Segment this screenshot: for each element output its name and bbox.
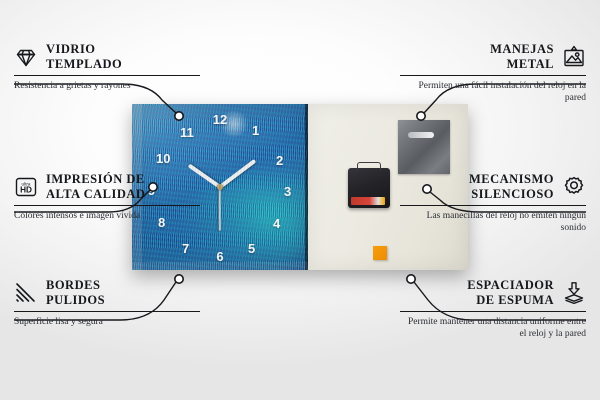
clock-numeral-10: 10 <box>156 152 170 165</box>
feature-header: BORDESPULIDOS <box>14 278 200 308</box>
feature-rule <box>400 311 586 312</box>
clock-numeral-2: 2 <box>276 154 283 167</box>
diagonal-lines-icon <box>14 281 38 305</box>
feature-mecanismo-silencioso[interactable]: MECANISMOSILENCIOSO Las manecillas del r… <box>400 172 586 235</box>
diamond-icon <box>14 45 38 69</box>
feature-description: Permite mantener una distancia uniforme … <box>400 316 586 341</box>
clock-numeral-7: 7 <box>182 242 189 255</box>
clock-numeral-3: 3 <box>284 185 291 198</box>
feature-rule <box>14 205 200 206</box>
feature-title: MANEJASMETAL <box>490 42 554 72</box>
quartz-movement <box>348 168 390 208</box>
feature-header: VIDRIOTEMPLADO <box>14 42 200 72</box>
feature-title: ESPACIADORDE ESPUMA <box>467 278 554 308</box>
feature-vidrio-templado[interactable]: VIDRIOTEMPLADO Resistencia a grietas y r… <box>14 42 200 92</box>
feature-description: Permiten una fácil instalación del reloj… <box>400 80 586 105</box>
clock-center-cap <box>217 184 223 190</box>
feature-description: Superficie lisa y segura <box>14 316 200 328</box>
feature-impresion-alta-calidad[interactable]: ultra HD IMPRESIÓN DEALTA CALIDAD Colore… <box>14 172 200 222</box>
feature-description: Colores intensos e imagen vívida <box>14 210 200 222</box>
svg-text:HD: HD <box>20 185 32 194</box>
feature-rule <box>14 311 200 312</box>
feature-rule <box>400 75 586 76</box>
feature-espaciador-espuma[interactable]: ESPACIADORDE ESPUMA Permite mantener una… <box>400 278 586 341</box>
feature-header: MECANISMOSILENCIOSO <box>400 172 586 202</box>
feature-rule <box>400 205 586 206</box>
feature-description: Las manecillas del reloj no emiten ningú… <box>400 210 586 235</box>
feature-header: ESPACIADORDE ESPUMA <box>400 278 586 308</box>
clock-second-hand <box>219 187 221 231</box>
foam-spacer <box>373 246 387 260</box>
feature-bordes-pulidos[interactable]: BORDESPULIDOS Superficie lisa y segura <box>14 278 200 328</box>
feature-title: BORDESPULIDOS <box>46 278 105 308</box>
feature-description: Resistencia a grietas y rayones <box>14 80 200 92</box>
picture-frame-hanger-icon <box>562 45 586 69</box>
clock-numeral-5: 5 <box>248 242 255 255</box>
feature-header: ultra HD IMPRESIÓN DEALTA CALIDAD <box>14 172 200 202</box>
feature-manejas-metal[interactable]: MANEJASMETAL Permiten una fácil instalac… <box>400 42 586 105</box>
feature-rule <box>14 75 200 76</box>
feature-title: MECANISMOSILENCIOSO <box>469 172 554 202</box>
gear-icon <box>562 175 586 199</box>
foam-spacer-arrow-icon <box>562 281 586 305</box>
clock-numeral-1: 1 <box>252 124 259 137</box>
clock-minute-hand <box>219 159 257 189</box>
ultra-hd-icon: ultra HD <box>14 175 38 199</box>
clock-numeral-12: 12 <box>213 113 227 126</box>
clock-numeral-11: 11 <box>180 126 194 139</box>
clock-numeral-4: 4 <box>273 217 280 230</box>
feature-header: MANEJASMETAL <box>400 42 586 72</box>
aa-battery <box>351 197 385 205</box>
clock-numeral-6: 6 <box>216 250 223 263</box>
metal-hanger-plate <box>398 120 450 174</box>
infographic-canvas: 12 1 2 3 4 5 6 7 8 9 10 11 <box>0 0 600 400</box>
feature-title: IMPRESIÓN DEALTA CALIDAD <box>46 172 145 202</box>
feature-title: VIDRIOTEMPLADO <box>46 42 122 72</box>
